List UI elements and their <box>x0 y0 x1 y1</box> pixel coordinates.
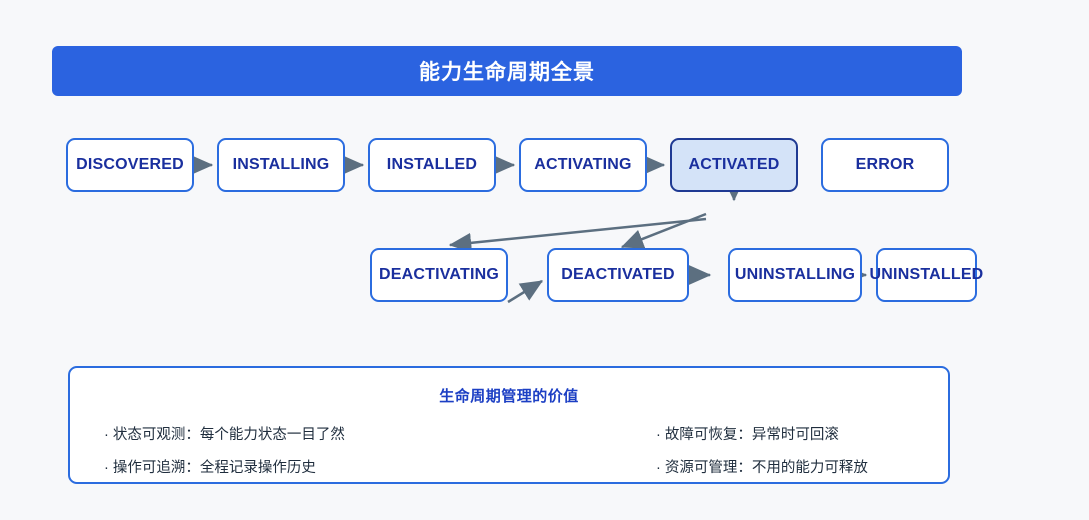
state-box-deactivating[interactable]: DEACTIVATING <box>370 248 508 302</box>
state-label-installed: INSTALLED <box>387 156 477 174</box>
state-label-uninstalled: UNINSTALLED <box>870 266 984 284</box>
state-label-activating: ACTIVATING <box>534 156 631 174</box>
value-bullet-item: · 资源可管理：不用的能力可释放 <box>516 456 928 477</box>
value-bullet-item: · 状态可观测：每个能力状态一目了然 <box>104 423 516 444</box>
arrow-deactivating-deactivated <box>508 281 542 302</box>
state-label-activated: ACTIVATED <box>689 156 780 174</box>
state-box-deactivated[interactable]: DEACTIVATED <box>547 248 689 302</box>
state-label-error: ERROR <box>856 156 915 174</box>
value-bullet-grid: · 状态可观测：每个能力状态一目了然 · 故障可恢复：异常时可回滚 · 操作可追… <box>70 423 948 477</box>
value-panel-title: 生命周期管理的价值 <box>70 385 948 406</box>
lifecycle-diagram-canvas: 能力生命周期全景 <box>0 0 1089 520</box>
state-box-uninstalling[interactable]: UNINSTALLING <box>728 248 862 302</box>
value-bullet-item: · 操作可追溯：全程记录操作历史 <box>104 456 516 477</box>
state-box-installing[interactable]: INSTALLING <box>217 138 345 192</box>
state-box-installed[interactable]: INSTALLED <box>368 138 496 192</box>
state-label-deactivated: DEACTIVATED <box>561 266 675 284</box>
state-box-activated[interactable]: ACTIVATED <box>670 138 798 192</box>
state-label-uninstalling: UNINSTALLING <box>735 266 855 284</box>
value-bullets-right-column: · 资源可管理：不用的能力可释放 <box>516 456 928 477</box>
value-bullets-right-column: · 故障可恢复：异常时可回滚 <box>516 423 928 444</box>
page-title: 能力生命周期全景 <box>419 56 595 86</box>
value-bullets-left-column: · 状态可观测：每个能力状态一目了然 <box>104 423 516 444</box>
state-box-discovered[interactable]: DISCOVERED <box>66 138 194 192</box>
state-box-activating[interactable]: ACTIVATING <box>519 138 647 192</box>
state-label-installing: INSTALLING <box>233 156 330 174</box>
arrow-activated-deactivated <box>622 214 706 247</box>
state-box-error[interactable]: ERROR <box>821 138 949 192</box>
page-title-banner: 能力生命周期全景 <box>52 46 962 96</box>
value-bullets-left-column: · 操作可追溯：全程记录操作历史 <box>104 456 516 477</box>
state-box-uninstalled[interactable]: UNINSTALLED <box>876 248 977 302</box>
value-summary-panel: 生命周期管理的价值 · 状态可观测：每个能力状态一目了然 · 故障可恢复：异常时… <box>68 366 950 484</box>
arrow-activated-deactivating <box>450 219 706 245</box>
value-bullet-item: · 故障可恢复：异常时可回滚 <box>516 423 928 444</box>
state-label-deactivating: DEACTIVATING <box>379 266 499 284</box>
state-label-discovered: DISCOVERED <box>76 156 184 174</box>
